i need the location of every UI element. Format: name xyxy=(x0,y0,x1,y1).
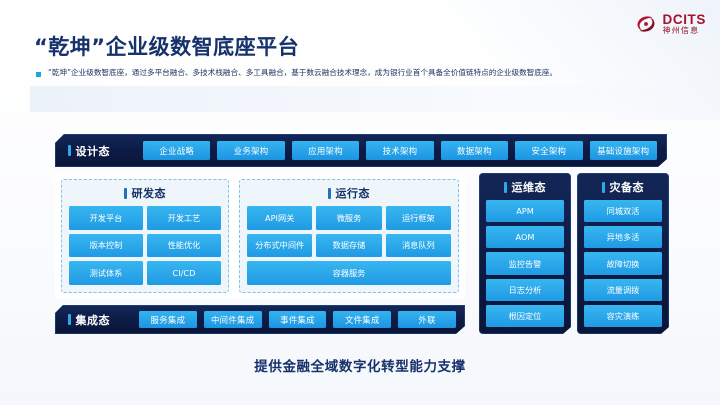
layer-integration-label: 集成态 xyxy=(76,312,111,328)
cell-ops-1[interactable]: AOM xyxy=(486,226,564,248)
cell-dr-0[interactable]: 同城双活 xyxy=(584,200,662,222)
layer-disaster-recovery: 灾备态 同城双活 异地多活 故障切换 流量调拨 容灾演练 xyxy=(577,173,669,334)
accent-bar-icon xyxy=(124,188,127,199)
layer-design-header: 设计态 xyxy=(68,143,136,159)
layer-rnd: 研发态 开发平台 开发工艺 版本控制 性能优化 测试体系 CI/CD xyxy=(61,179,229,293)
accent-bar-icon xyxy=(68,145,71,156)
cell-runtime-4[interactable]: 数据存储 xyxy=(316,234,381,258)
cell-runtime-3[interactable]: 分布式中间件 xyxy=(247,234,312,258)
cell-rnd-1[interactable]: 开发工艺 xyxy=(147,206,221,230)
cell-dr-3[interactable]: 流量调拨 xyxy=(584,279,662,301)
layer-runtime-grid: API网关 微服务 运行框架 分布式中间件 数据存储 消息队列 容器服务 xyxy=(247,206,451,285)
cell-rnd-2[interactable]: 版本控制 xyxy=(69,234,143,258)
cell-rnd-0[interactable]: 开发平台 xyxy=(69,206,143,230)
cell-runtime-2[interactable]: 运行框架 xyxy=(386,206,451,230)
accent-bar-icon xyxy=(68,314,71,325)
layer-rnd-tag: 研发态 xyxy=(124,185,166,201)
page-title: “乾坤”企业级数智底座平台 xyxy=(34,31,299,61)
cell-rnd-4[interactable]: 测试体系 xyxy=(69,261,143,285)
chip-design-5[interactable]: 安全架构 xyxy=(515,141,582,160)
dcits-swirl-logo-icon xyxy=(634,12,658,36)
footer-caption: 提供金融全域数字化转型能力支撑 xyxy=(0,355,720,375)
layer-design-label: 设计态 xyxy=(76,143,111,159)
layer-runtime-header: 运行态 xyxy=(247,185,451,201)
layer-ops-tag: 运维态 xyxy=(504,179,546,195)
cell-dr-4[interactable]: 容灾演练 xyxy=(584,305,662,327)
bullet-square-icon xyxy=(36,72,41,77)
layer-dr-list: 同城双活 异地多活 故障切换 流量调拨 容灾演练 xyxy=(584,200,662,327)
layer-dr-tag: 灾备态 xyxy=(602,179,644,195)
layer-runtime-label: 运行态 xyxy=(336,185,371,201)
cell-runtime-5[interactable]: 消息队列 xyxy=(386,234,451,258)
layer-integration: 集成态 服务集成 中间件集成 事件集成 文件集成 外联 xyxy=(55,305,465,334)
layer-design: 设计态 企业战略 业务架构 应用架构 技术架构 数据架构 安全架构 基础设施架构 xyxy=(55,134,667,167)
middle-white-container: 研发态 开发平台 开发工艺 版本控制 性能优化 测试体系 CI/CD xyxy=(55,173,465,299)
chip-design-4[interactable]: 数据架构 xyxy=(441,141,508,160)
subtitle-row: “乾坤”企业级数智底座，通过多平台融合、多技术栈融合、多工具融合，基于数云融合技… xyxy=(36,68,557,78)
brand-name-en: DCITS xyxy=(663,13,707,27)
chip-integration-1[interactable]: 中间件集成 xyxy=(204,311,262,328)
brand-logo-text: DCITS 神州信息 xyxy=(663,13,707,36)
cell-dr-1[interactable]: 异地多活 xyxy=(584,226,662,248)
cell-rnd-3[interactable]: 性能优化 xyxy=(147,234,221,258)
brand-logo: DCITS 神州信息 xyxy=(634,12,707,36)
chip-integration-0[interactable]: 服务集成 xyxy=(139,311,197,328)
chip-integration-3[interactable]: 文件集成 xyxy=(333,311,391,328)
cell-rnd-5[interactable]: CI/CD xyxy=(147,261,221,285)
accent-bar-icon xyxy=(328,188,331,199)
layer-rnd-grid: 开发平台 开发工艺 版本控制 性能优化 测试体系 CI/CD xyxy=(69,206,221,285)
layer-rnd-label: 研发态 xyxy=(132,185,167,201)
chip-design-2[interactable]: 应用架构 xyxy=(292,141,359,160)
cell-ops-4[interactable]: 根因定位 xyxy=(486,305,564,327)
chip-design-3[interactable]: 技术架构 xyxy=(366,141,433,160)
brand-name-cn: 神州信息 xyxy=(663,27,707,35)
chip-design-0[interactable]: 企业战略 xyxy=(143,141,210,160)
platform-architecture-diagram: 设计态 企业战略 业务架构 应用架构 技术架构 数据架构 安全架构 基础设施架构… xyxy=(55,134,667,340)
accent-bar-icon xyxy=(504,182,507,193)
layer-ops-label: 运维态 xyxy=(512,179,547,195)
cell-runtime-1[interactable]: 微服务 xyxy=(316,206,381,230)
cell-ops-2[interactable]: 监控告警 xyxy=(486,252,564,274)
layer-integration-header: 集成态 xyxy=(68,312,132,328)
chip-design-6[interactable]: 基础设施架构 xyxy=(590,141,657,160)
cell-ops-0[interactable]: APM xyxy=(486,200,564,222)
layer-runtime-tag: 运行态 xyxy=(328,185,370,201)
layer-ops-header: 运维态 xyxy=(486,179,564,195)
layer-rnd-header: 研发态 xyxy=(69,185,221,201)
page-subtitle: “乾坤”企业级数智底座，通过多平台融合、多技术栈融合、多工具融合，基于数云融合技… xyxy=(48,68,557,78)
chip-integration-4[interactable]: 外联 xyxy=(398,311,456,328)
middle-band: 研发态 开发平台 开发工艺 版本控制 性能优化 测试体系 CI/CD xyxy=(55,173,667,299)
decorative-band-wash xyxy=(30,86,720,112)
slide-canvas: DCITS 神州信息 “乾坤”企业级数智底座平台 “乾坤”企业级数智底座，通过多… xyxy=(0,0,720,405)
cell-runtime-container-service[interactable]: 容器服务 xyxy=(247,261,451,285)
layer-dr-label: 灾备态 xyxy=(610,179,645,195)
accent-bar-icon xyxy=(602,182,605,193)
chip-design-1[interactable]: 业务架构 xyxy=(217,141,284,160)
cell-ops-3[interactable]: 日志分析 xyxy=(486,279,564,301)
layer-runtime: 运行态 API网关 微服务 运行框架 分布式中间件 数据存储 消息队列 容器服务 xyxy=(239,179,459,293)
layer-ops: 运维态 APM AOM 监控告警 日志分析 根因定位 xyxy=(479,173,571,334)
cell-dr-2[interactable]: 故障切换 xyxy=(584,252,662,274)
layer-ops-list: APM AOM 监控告警 日志分析 根因定位 xyxy=(486,200,564,327)
cell-runtime-0[interactable]: API网关 xyxy=(247,206,312,230)
chip-integration-2[interactable]: 事件集成 xyxy=(269,311,327,328)
layer-dr-header: 灾备态 xyxy=(584,179,662,195)
